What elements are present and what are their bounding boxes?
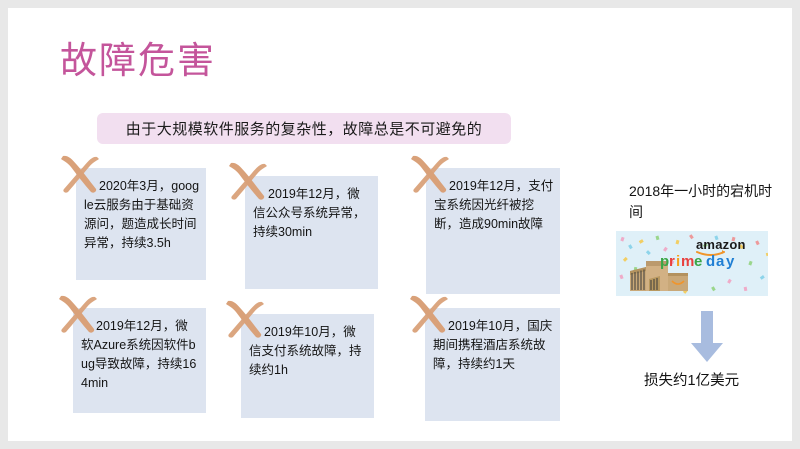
incident-card-alipay-fiber-cut-2019: 2019年12月，支付宝系统因光纤被挖断，造成90min故障	[426, 168, 560, 294]
incident-card-google-cloud-2020: 2020年3月，google云服务由于基础资源问，题造成长时间异常，持续3.5h	[76, 168, 206, 280]
prime-day-banner-graphic: amazon p r i m e d a y	[616, 231, 768, 296]
page-title: 故障危害	[60, 38, 216, 84]
incident-card-text: 2019年10月，国庆期间携程酒店系统故障，持续约1天	[433, 317, 554, 374]
svg-text:a: a	[716, 253, 725, 270]
incident-card-wechat-pay-2019: 2019年10月，微信支付系统故障，持续约1h	[241, 314, 374, 418]
incident-card-ctrip-hotel-2019: 2019年10月，国庆期间携程酒店系统故障，持续约1天	[425, 308, 560, 421]
loss-amount-text: 损失约1亿美元	[644, 369, 792, 390]
incident-card-text: 2019年12月，微软Azure系统因软件bug导致故障，持续164min	[81, 317, 200, 393]
svg-text:e: e	[694, 253, 702, 270]
down-arrow-shape	[689, 311, 725, 363]
svg-text:m: m	[681, 253, 694, 270]
svg-text:r: r	[669, 253, 675, 270]
amazon-caption: 2018年一小时的宕机时间	[629, 181, 779, 223]
svg-text:d: d	[706, 253, 715, 270]
subtitle-banner: 由于大规模软件服务的复杂性，故障总是不可避免的	[97, 113, 511, 144]
svg-text:amazon: amazon	[696, 237, 746, 252]
incident-card-wechat-official-account-2019: 2019年12月，微信公众号系统异常，持续30min	[245, 176, 378, 289]
svg-text:p: p	[660, 253, 669, 270]
slide-canvas: 故障危害 由于大规模软件服务的复杂性，故障总是不可避免的 2020年3月，goo…	[8, 8, 792, 441]
down-arrow-icon	[689, 311, 725, 363]
svg-text:i: i	[676, 253, 680, 270]
subtitle-text: 由于大规模软件服务的复杂性，故障总是不可避免的	[126, 118, 483, 139]
incident-card-text: 2020年3月，google云服务由于基础资源问，题造成长时间异常，持续3.5h	[84, 177, 200, 253]
incident-card-azure-bug-2019: 2019年12月，微软Azure系统因软件bug导致故障，持续164min	[73, 308, 206, 413]
incident-card-text: 2019年10月，微信支付系统故障，持续约1h	[249, 323, 368, 380]
svg-text:y: y	[726, 253, 735, 270]
amazon-prime-day-image: amazon p r i m e d a y	[616, 231, 768, 296]
incident-card-text: 2019年12月，支付宝系统因光纤被挖断，造成90min故障	[434, 177, 554, 234]
incident-card-text: 2019年12月，微信公众号系统异常，持续30min	[253, 185, 372, 242]
